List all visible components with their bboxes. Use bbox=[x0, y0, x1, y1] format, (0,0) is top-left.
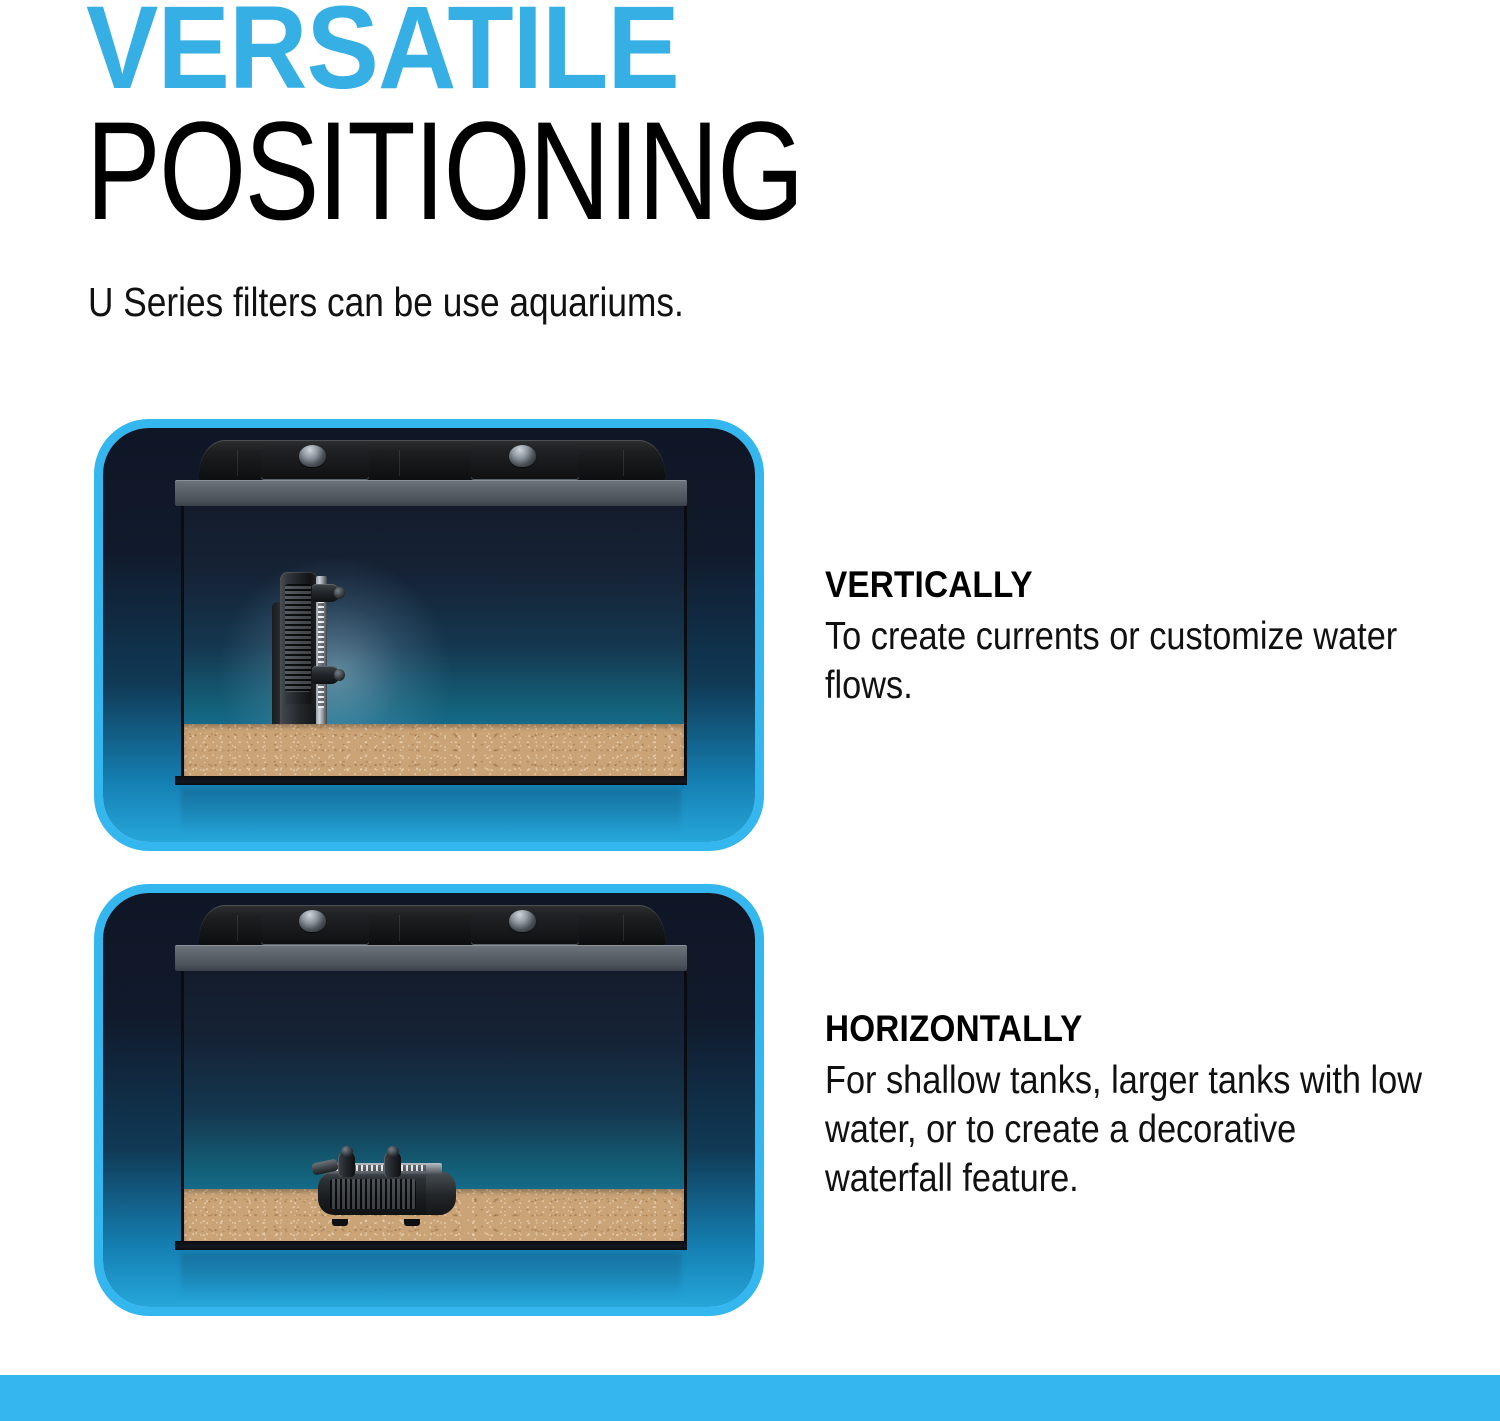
filter-intake-slots bbox=[285, 584, 311, 692]
tank-reflection bbox=[181, 1253, 681, 1297]
page-title: VERSATILE POSITIONING bbox=[86, 0, 1386, 236]
filter-intake-slots bbox=[330, 1179, 416, 1209]
illustration-card-vertical bbox=[103, 428, 755, 842]
card-inner-horizontal bbox=[103, 893, 755, 1307]
aquarium-tank-horizontal bbox=[175, 905, 687, 1250]
page-subtitle: U Series filters can be use aquariums. bbox=[88, 278, 684, 326]
suction-cup-mount-icon bbox=[312, 584, 340, 602]
internal-filter-vertical bbox=[272, 572, 338, 740]
filter-end-cap bbox=[426, 1171, 456, 1215]
feeding-flap-knob-icon bbox=[299, 910, 326, 932]
filter-rail-ticks bbox=[318, 596, 324, 708]
feeding-flap-right bbox=[471, 447, 579, 480]
feeding-flap-knob-icon bbox=[509, 445, 536, 467]
aquarium-tank-vertical bbox=[175, 440, 687, 785]
feature-description-vertical: VERTICALLY To create currents or customi… bbox=[825, 562, 1435, 710]
filter-foot bbox=[404, 1219, 420, 1226]
feature-body-vertical: To create currents or customize water fl… bbox=[825, 612, 1432, 710]
page-title-line-2: POSITIONING bbox=[86, 106, 1126, 236]
feature-title-vertical: VERTICALLY bbox=[825, 562, 1374, 608]
feature-title-horizontal: HORIZONTALLY bbox=[825, 1006, 1374, 1052]
tank-reflection bbox=[181, 788, 681, 832]
suction-cup-mount-icon bbox=[384, 1151, 401, 1177]
feeding-flap-left bbox=[261, 912, 369, 945]
bottom-accent-bar bbox=[0, 1375, 1500, 1421]
illustration-card-horizontal bbox=[103, 893, 755, 1307]
feature-description-horizontal: HORIZONTALLY For shallow tanks, larger t… bbox=[825, 1006, 1435, 1203]
aquarium-hood-rim bbox=[175, 480, 687, 506]
tank-base-trim bbox=[175, 1241, 687, 1250]
aquarium-hood-rim bbox=[175, 945, 687, 971]
suction-cup-mount-icon bbox=[312, 666, 340, 684]
feeding-flap-knob-icon bbox=[299, 445, 326, 467]
feature-body-horizontal: For shallow tanks, larger tanks with low… bbox=[825, 1056, 1432, 1203]
gravel-substrate bbox=[184, 724, 684, 776]
feeding-flap-knob-icon bbox=[509, 910, 536, 932]
aquarium-hood bbox=[199, 905, 665, 945]
feeding-flap-left bbox=[261, 447, 369, 480]
suction-cup-mount-icon bbox=[338, 1151, 355, 1177]
internal-filter-horizontal bbox=[312, 1155, 458, 1221]
tank-glass-body bbox=[181, 971, 687, 1241]
card-inner-vertical bbox=[103, 428, 755, 842]
aquarium-hood bbox=[199, 440, 665, 480]
tank-glass-body bbox=[181, 506, 687, 776]
tank-base-trim bbox=[175, 776, 687, 785]
filter-foot bbox=[332, 1219, 348, 1226]
feeding-flap-right bbox=[471, 912, 579, 945]
page-title-line-1: VERSATILE bbox=[86, 0, 1282, 104]
